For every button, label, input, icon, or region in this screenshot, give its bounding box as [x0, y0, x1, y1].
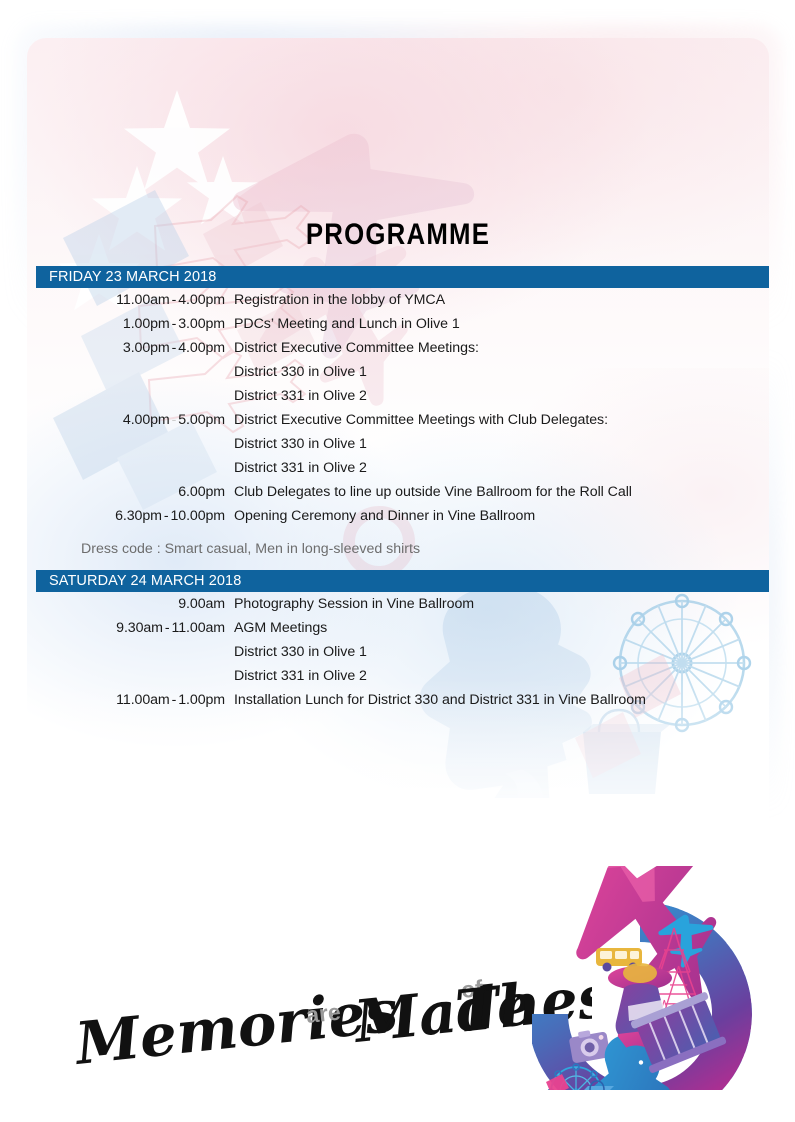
row-description: District 330 in Olive 1 — [234, 436, 769, 452]
schedule-row: 9.30am-11.00am AGM Meetings — [36, 616, 769, 640]
row-time: 9.30am-11.00am — [36, 620, 234, 636]
row-time: 4.00pm-5.00pm — [36, 412, 234, 428]
schedule-row: 11.00am-1.00pm Installation Lunch for Di… — [36, 688, 769, 712]
schedule-row: District 330 in Olive 1 — [36, 360, 769, 384]
programme-page: PROGRAMME FRIDAY 23 MARCH 2018 11.00am-4… — [0, 0, 795, 1122]
schedule-row: 4.00pm-5.00pm District Executive Committ… — [36, 408, 769, 432]
day-heading-friday: FRIDAY 23 MARCH 2018 — [36, 266, 769, 288]
row-time: 9.00am — [36, 596, 234, 612]
schedule-row: 9.00am Photography Session in Vine Ballr… — [36, 592, 769, 616]
programme-card: PROGRAMME FRIDAY 23 MARCH 2018 11.00am-4… — [27, 38, 769, 1090]
row-description: AGM Meetings — [234, 620, 769, 636]
row-description: District 331 in Olive 2 — [234, 460, 769, 476]
schedule-row: District 330 in Olive 1 — [36, 640, 769, 664]
row-description: PDCs’ Meeting and Lunch in Olive 1 — [234, 316, 769, 332]
schedule: FRIDAY 23 MARCH 2018 11.00am-4.00pm Regi… — [36, 266, 769, 712]
row-description: District 330 in Olive 1 — [234, 364, 769, 380]
schedule-row: 6.30pm-10.00pm Opening Ceremony and Dinn… — [36, 504, 769, 528]
row-description: District Executive Committee Meetings wi… — [234, 412, 769, 428]
schedule-row: District 331 in Olive 2 — [36, 384, 769, 408]
schedule-row: 1.00pm-3.00pm PDCs’ Meeting and Lunch in… — [36, 312, 769, 336]
row-time: 6.00pm — [36, 484, 234, 500]
schedule-row: 6.00pm Club Delegates to line up outside… — [36, 480, 769, 504]
row-description: Club Delegates to line up outside Vine B… — [234, 484, 769, 500]
row-description: District 331 in Olive 2 — [234, 388, 769, 404]
row-description: District Executive Committee Meetings: — [234, 340, 769, 356]
day-heading-saturday: SATURDAY 24 MARCH 2018 — [36, 570, 769, 592]
schedule-row: 11.00am-4.00pm Registration in the lobby… — [36, 288, 769, 312]
travel-gear-emblem — [532, 866, 769, 1090]
dress-code-note: Dress code : Smart casual, Men in long-s… — [36, 537, 769, 561]
spacer — [36, 528, 769, 537]
schedule-row: District 331 in Olive 2 — [36, 664, 769, 688]
row-time: 3.00pm-4.00pm — [36, 340, 234, 356]
page-title: PROGRAMME — [79, 218, 717, 252]
tagline-memories-are-made-of-these: Memories are Made of These — [72, 976, 592, 1080]
row-description: Photography Session in Vine Ballroom — [234, 596, 769, 612]
row-time: 6.30pm-10.00pm — [36, 508, 234, 524]
camera-icon — [568, 1027, 611, 1063]
row-description: District 330 in Olive 1 — [234, 644, 769, 660]
row-time: 1.00pm-3.00pm — [36, 316, 234, 332]
schedule-row: 3.00pm-4.00pm District Executive Committ… — [36, 336, 769, 360]
row-time: 11.00am-4.00pm — [36, 292, 234, 308]
row-description: Installation Lunch for District 330 and … — [234, 692, 769, 708]
row-description: District 331 in Olive 2 — [234, 668, 769, 684]
row-description: Registration in the lobby of YMCA — [234, 292, 769, 308]
schedule-row: District 331 in Olive 2 — [36, 456, 769, 480]
row-time: 11.00am-1.00pm — [36, 692, 234, 708]
schedule-row: District 330 in Olive 1 — [36, 432, 769, 456]
row-description: Opening Ceremony and Dinner in Vine Ball… — [234, 508, 769, 524]
spacer — [36, 561, 769, 570]
tagline-word-are: are — [305, 999, 342, 1028]
